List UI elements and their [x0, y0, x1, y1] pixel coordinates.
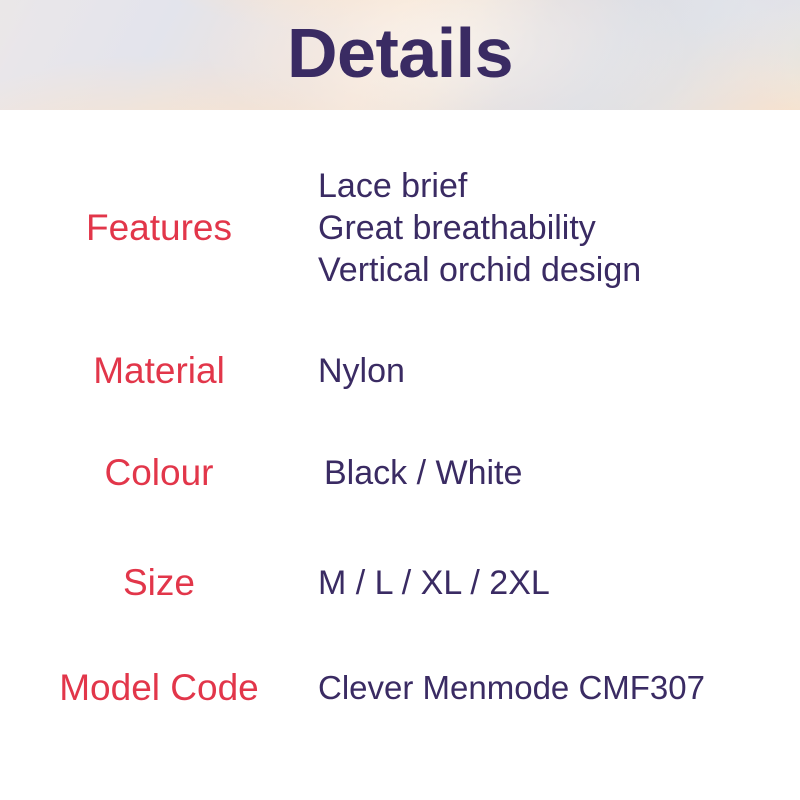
- spec-value-features: Lace brief Great breathability Vertical …: [318, 165, 800, 291]
- spec-value-model-code: Clever Menmode CMF307: [318, 667, 800, 709]
- spec-label-features: Features: [0, 208, 318, 249]
- spec-table: Features Lace brief Great breathability …: [0, 110, 800, 800]
- spec-row-features: Features Lace brief Great breathability …: [0, 158, 800, 298]
- header-banner: Details: [0, 0, 800, 110]
- spec-row-model-code: Model Code Clever Menmode CMF307: [0, 660, 800, 716]
- spec-value-material: Nylon: [318, 350, 800, 392]
- spec-row-material: Material Nylon: [0, 343, 800, 399]
- spec-label-colour: Colour: [0, 453, 318, 494]
- spec-label-model-code: Model Code: [0, 668, 318, 709]
- spec-row-colour: Colour Black / White: [0, 445, 800, 501]
- spec-value-size: M / L / XL / 2XL: [318, 562, 800, 604]
- page-title: Details: [0, 0, 800, 110]
- spec-label-size: Size: [0, 563, 318, 604]
- spec-row-size: Size M / L / XL / 2XL: [0, 555, 800, 611]
- spec-value-colour: Black / White: [318, 452, 800, 494]
- details-page: Details Features Lace brief Great breath…: [0, 0, 800, 800]
- spec-label-material: Material: [0, 351, 318, 392]
